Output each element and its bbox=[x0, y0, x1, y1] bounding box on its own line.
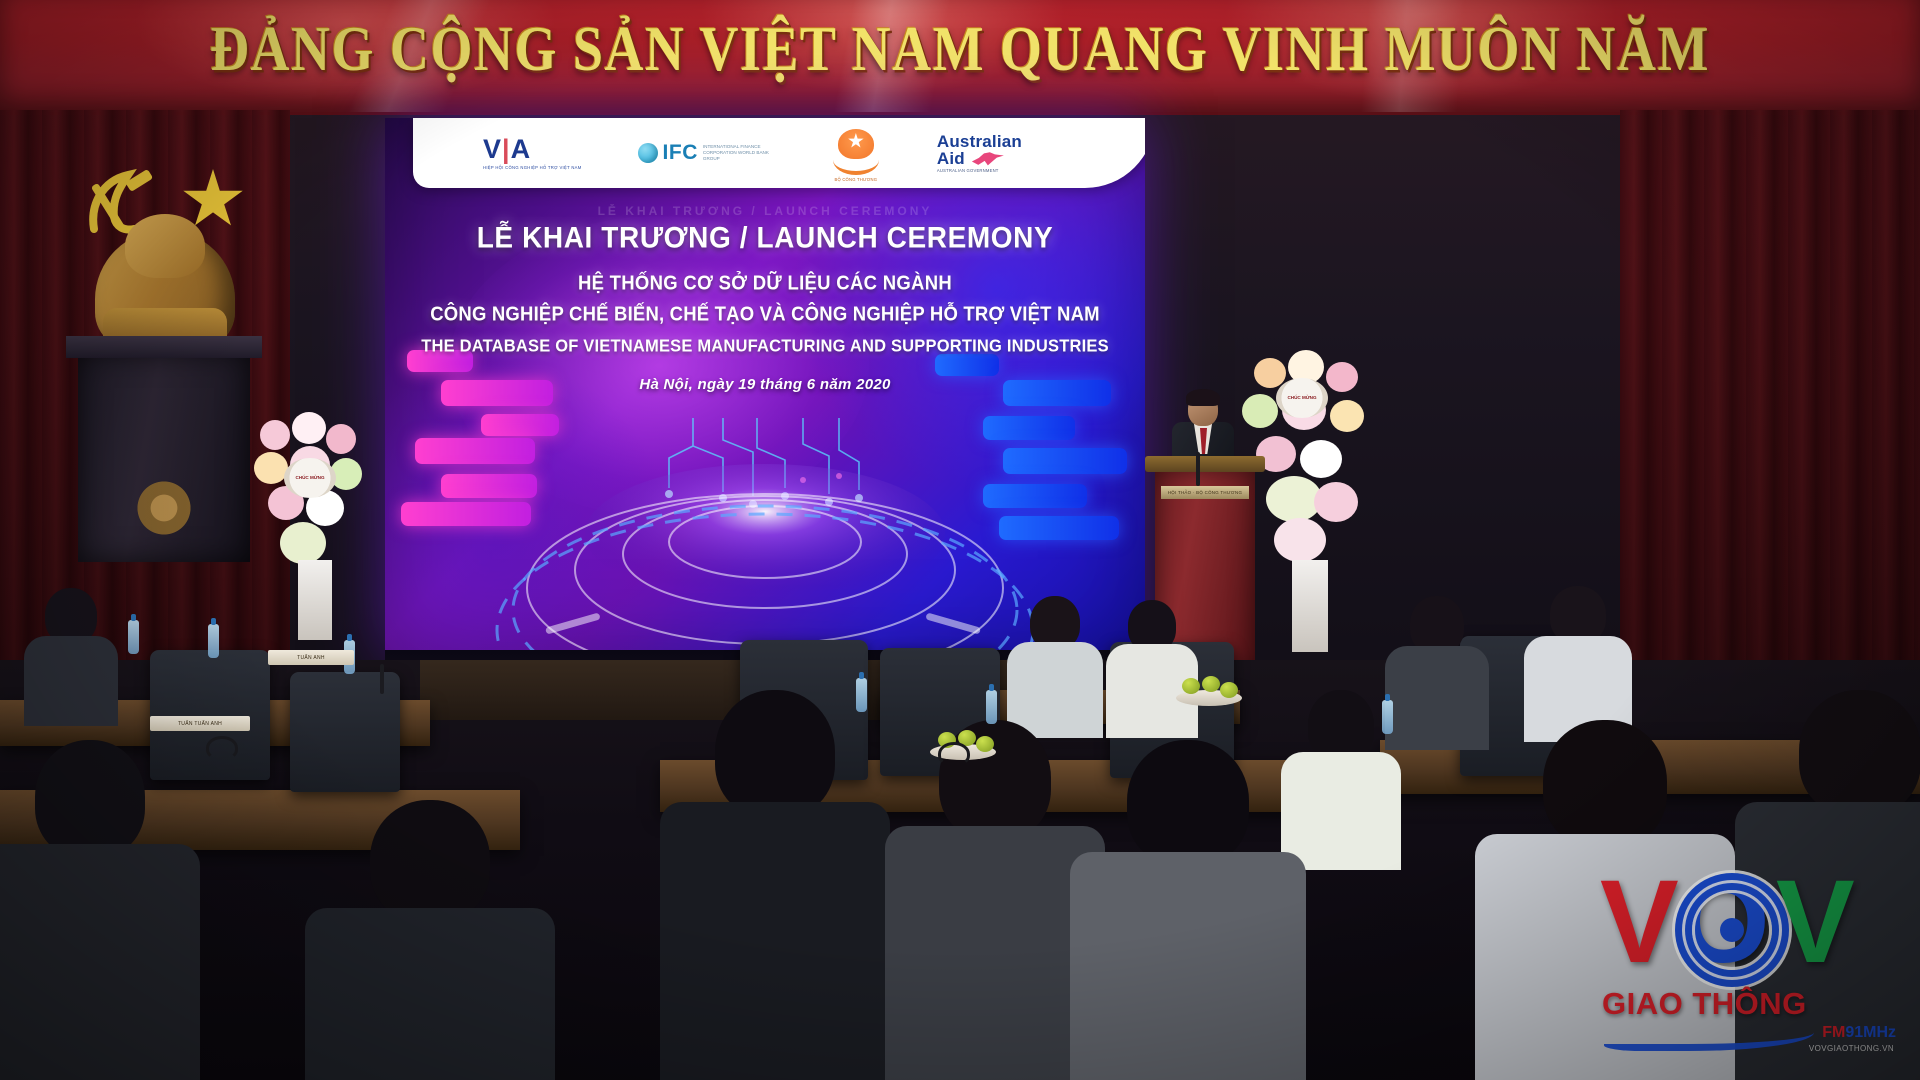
flower bbox=[1326, 362, 1358, 392]
head bbox=[370, 800, 490, 922]
led-presentation-screen: V|A HIỆP HỘI CÔNG NGHIỆP HỖ TRỢ VIỆT NAM… bbox=[385, 118, 1145, 658]
head bbox=[715, 690, 835, 818]
audience-member-foreground bbox=[680, 690, 870, 1080]
logo-ifc: IFC INTERNATIONAL FINANCE CORPORATION WO… bbox=[638, 141, 775, 165]
fm-number: 91 bbox=[1845, 1024, 1863, 1041]
aus-line1: Australian bbox=[937, 133, 1022, 150]
water-bottle bbox=[1382, 700, 1393, 734]
ifc-subtitle: INTERNATIONAL FINANCE CORPORATION WORLD … bbox=[703, 144, 775, 161]
congrats-ribbon-left: CHÚC MỪNG bbox=[284, 458, 336, 498]
fm-unit: MHz bbox=[1863, 1024, 1896, 1041]
flower-basket-left: CHÚC MỪNG bbox=[250, 410, 380, 640]
table-nameplate: TUẤN ANH bbox=[268, 650, 354, 665]
via-bar: | bbox=[502, 134, 511, 164]
speaker-hair bbox=[1186, 389, 1220, 406]
slide-subtitle-vi-2: CÔNG NGHIỆP CHẾ BIẾN, CHẾ TẠO VÀ CÔNG NG… bbox=[411, 302, 1119, 326]
water-bottle bbox=[986, 690, 997, 724]
venue-banner-text: ĐẢNG CỘNG SẢN VIỆT NAM QUANG VINH MUÔN N… bbox=[0, 12, 1920, 85]
vov-swoosh-icon bbox=[1604, 1020, 1814, 1051]
moit-label: BỘ CÔNG THƯƠNG bbox=[831, 177, 881, 182]
via-wordmark: V|A bbox=[483, 136, 582, 163]
slide-text-block: LỄ KHAI TRƯƠNG / LAUNCH CEREMONY HỆ THỐN… bbox=[385, 222, 1145, 393]
head bbox=[35, 740, 145, 858]
flower bbox=[326, 424, 356, 454]
slide-subtitle-en: THE DATABASE OF VIETNAMESE MANUFACTURING… bbox=[411, 336, 1119, 357]
vov-letter-v1: V bbox=[1600, 868, 1679, 977]
vov-subtitle: GIAO THÔNG bbox=[1602, 986, 1807, 1022]
water-bottle bbox=[856, 678, 867, 712]
flower bbox=[254, 452, 288, 484]
vov-radio-rings-icon bbox=[1692, 890, 1772, 970]
water-bottle bbox=[208, 624, 219, 658]
audience-member-foreground bbox=[1090, 740, 1286, 1080]
torso bbox=[0, 844, 200, 1080]
flower bbox=[1254, 358, 1286, 388]
torso bbox=[24, 636, 118, 726]
vov-letter-v2: V bbox=[1776, 868, 1855, 977]
flower-stand bbox=[1292, 560, 1328, 652]
podium-top bbox=[1145, 456, 1265, 472]
table-nameplate: TUẤN TUẤN ANH bbox=[150, 716, 250, 731]
water-bottle bbox=[128, 620, 139, 654]
pedestal-lotus-motif bbox=[133, 477, 195, 539]
via-subtitle: HIỆP HỘI CÔNG NGHIỆP HỖ TRỢ VIỆT NAM bbox=[483, 165, 582, 170]
logo-australian-aid: Australian Aid AUSTRALIAN GOVERNMENT bbox=[937, 133, 1022, 174]
torso bbox=[1070, 852, 1306, 1080]
vov-site-tag: VOVGIAOTHONG.VN bbox=[1809, 1044, 1894, 1053]
flower bbox=[1314, 482, 1358, 522]
head bbox=[1799, 690, 1920, 816]
microphone bbox=[380, 664, 384, 694]
torso bbox=[1385, 646, 1489, 750]
aus-line2: Aid bbox=[937, 150, 965, 167]
photo-canvas: ĐẢNG CỘNG SẢN VIỆT NAM QUANG VINH MUÔN N… bbox=[0, 0, 1920, 1080]
logo-moit: BỘ CÔNG THƯƠNG bbox=[831, 127, 881, 179]
torso bbox=[305, 908, 555, 1080]
head bbox=[1127, 740, 1249, 866]
stage-curtain-right bbox=[1620, 110, 1920, 670]
headset-icon bbox=[938, 742, 970, 766]
kangaroo-icon bbox=[972, 151, 1004, 166]
slide-subtitle-vi-1: HỆ THỐNG CƠ SỞ DỮ LIỆU CÁC NGÀNH bbox=[411, 271, 1119, 295]
sponsor-logo-band: V|A HIỆP HỘI CÔNG NGHIỆP HỖ TRỢ VIỆT NAM… bbox=[413, 118, 1145, 188]
flower bbox=[1300, 440, 1342, 478]
flower bbox=[1330, 400, 1364, 432]
vov-watermark: V O V GIAO THÔNG FM91MHz VOVGIAOTHONG.VN bbox=[1600, 868, 1900, 1058]
vortex-graphic bbox=[485, 424, 1045, 658]
logo-via: V|A HIỆP HỘI CÔNG NGHIỆP HỖ TRỢ VIỆT NAM bbox=[483, 136, 582, 170]
audience-member bbox=[28, 588, 114, 718]
flower-stand bbox=[298, 560, 332, 640]
audience-member bbox=[1530, 586, 1626, 736]
flower-basket-right: CHÚC MỪNG bbox=[1240, 350, 1380, 650]
flower bbox=[1274, 518, 1326, 562]
fm-prefix: FM bbox=[1822, 1024, 1845, 1041]
fruit bbox=[1202, 676, 1220, 692]
wreath-icon bbox=[833, 145, 879, 175]
audience-member bbox=[1110, 600, 1194, 740]
vov-fm-label: FM91MHz bbox=[1822, 1024, 1896, 1042]
bust-pedestal bbox=[78, 352, 250, 562]
flower bbox=[1242, 394, 1278, 428]
vov-logo-row: V O V bbox=[1600, 868, 1900, 988]
ifc-wordmark: IFC bbox=[663, 141, 698, 165]
globe-icon bbox=[638, 143, 658, 163]
slide-ghost-heading: LỄ KHAI TRƯƠNG / LAUNCH CEREMONY bbox=[385, 204, 1145, 218]
slide-date-line: Hà Nội, ngày 19 tháng 6 năm 2020 bbox=[411, 376, 1119, 393]
aus-subtitle: AUSTRALIAN GOVERNMENT bbox=[937, 169, 1022, 173]
foliage bbox=[280, 522, 326, 564]
audience-member-foreground bbox=[330, 800, 530, 1080]
head bbox=[1543, 720, 1667, 848]
torso bbox=[1281, 752, 1401, 870]
audience-member bbox=[1010, 596, 1100, 736]
fruit bbox=[1182, 678, 1200, 694]
audience-member-foreground bbox=[0, 740, 180, 1080]
flower bbox=[292, 412, 326, 444]
congrats-ribbon-right: CHÚC MỪNG bbox=[1276, 378, 1328, 418]
headset-icon bbox=[206, 736, 238, 760]
audience-member-foreground bbox=[905, 720, 1085, 1080]
podium-plate-text: HỘI THẢO · BỘ CÔNG THƯƠNG bbox=[1161, 486, 1249, 499]
flower bbox=[260, 420, 290, 450]
audience-member bbox=[1390, 596, 1484, 746]
torso bbox=[660, 802, 890, 1080]
fruit bbox=[1220, 682, 1238, 698]
audience-member bbox=[1286, 690, 1396, 860]
podium-microphone bbox=[1196, 452, 1200, 486]
fruit bbox=[976, 736, 994, 752]
slide-title: LỄ KHAI TRƯƠNG / LAUNCH CEREMONY bbox=[411, 221, 1119, 255]
